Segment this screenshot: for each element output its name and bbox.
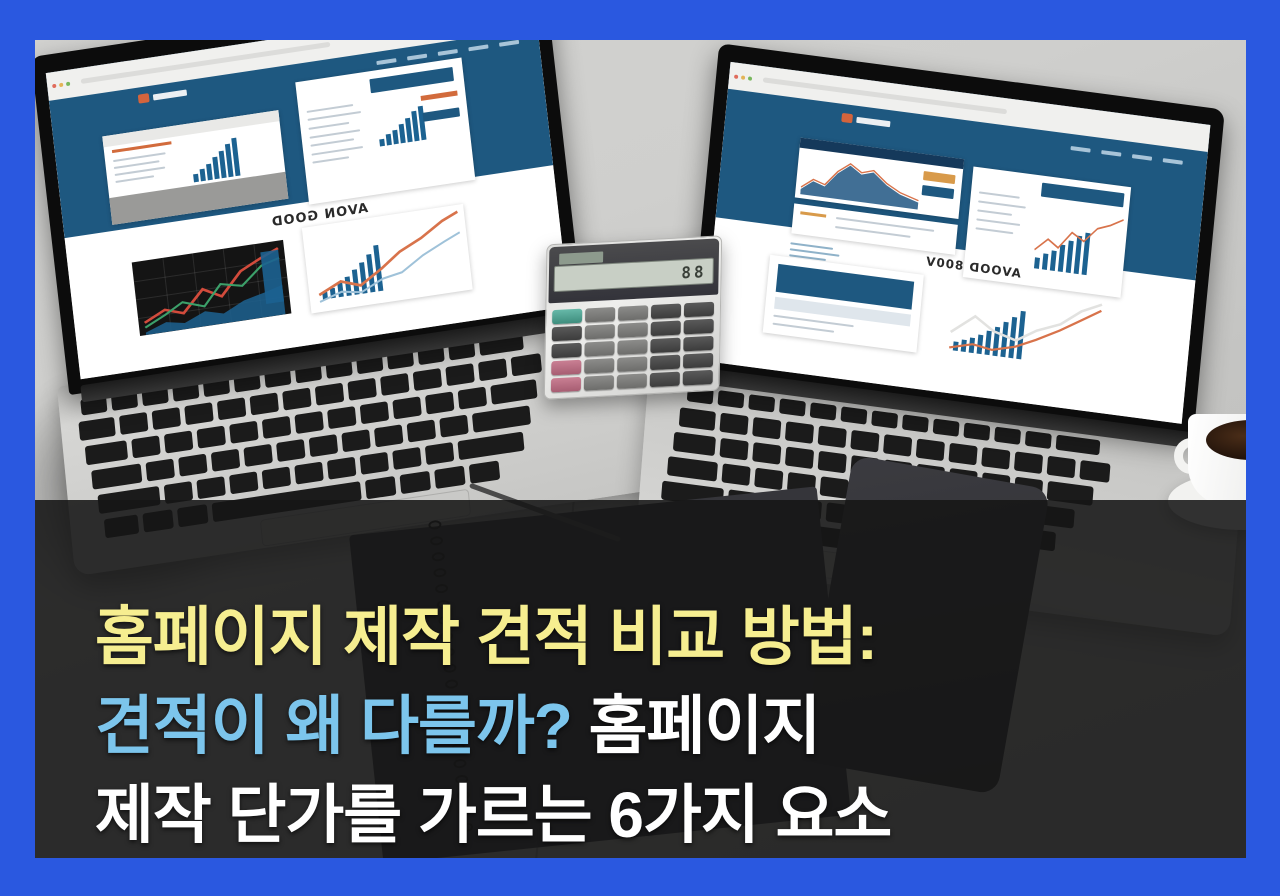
calculator-keypad[interactable] <box>551 302 714 393</box>
window-minimize-icon[interactable] <box>741 75 745 80</box>
dashboard-right: AVOOD 800V <box>702 62 1211 424</box>
window-maximize-icon[interactable] <box>66 81 70 86</box>
title-overlay: 홈페이지 제작 견적 비교 방법: 견적이 왜 다를까? 홈페이지 제작 단가를… <box>35 500 1246 858</box>
calc-key[interactable] <box>617 339 647 355</box>
title-line-2-rest: 홈페이지 <box>572 690 820 762</box>
title-line-2-highlight: 견적이 왜 다를까? <box>95 690 572 762</box>
calc-key[interactable] <box>684 319 714 335</box>
dark-line-chart <box>132 240 292 336</box>
window-minimize-icon[interactable] <box>59 83 63 88</box>
window-close-icon[interactable] <box>734 74 738 79</box>
cta-button[interactable] <box>369 67 454 94</box>
calc-key[interactable] <box>684 302 714 318</box>
title-line-3: 제작 단가를 가르는 6가지 요소 <box>95 771 1215 858</box>
title-line-1: 홈페이지 제작 견적 비교 방법: <box>95 593 1215 682</box>
cta-button[interactable] <box>1041 182 1125 207</box>
calc-key[interactable] <box>650 355 680 371</box>
outer-blue-frame: AVON GOOD <box>0 0 1280 896</box>
title-line-2: 견적이 왜 다를까? 홈페이지 <box>95 682 1215 771</box>
title-block: 홈페이지 제작 견적 비교 방법: 견적이 왜 다를까? 홈페이지 제작 단가를… <box>95 593 1215 858</box>
calc-key[interactable] <box>617 356 647 372</box>
logo-mark-icon <box>138 94 150 105</box>
bar-chart-card2 <box>376 106 426 147</box>
calc-key[interactable] <box>618 305 648 321</box>
window-close-icon[interactable] <box>52 84 56 89</box>
calc-key[interactable] <box>584 341 614 357</box>
calc-key[interactable] <box>618 322 648 338</box>
logo-mark-icon <box>841 113 853 123</box>
calc-key[interactable] <box>551 343 581 359</box>
calc-key[interactable] <box>651 321 681 337</box>
calc-key[interactable] <box>617 373 647 389</box>
calc-key[interactable] <box>585 307 615 323</box>
calc-key[interactable] <box>552 309 582 325</box>
calc-key[interactable] <box>651 303 681 319</box>
dashboard-card-2 <box>295 58 475 205</box>
calc-key[interactable] <box>683 353 713 369</box>
calc-key[interactable] <box>584 358 614 374</box>
calc-key[interactable] <box>551 377 581 393</box>
calc-key[interactable] <box>552 326 582 342</box>
calc-key[interactable] <box>683 370 713 386</box>
bar-chart-mini <box>189 137 240 182</box>
calculator-display-value: 88 <box>681 262 707 282</box>
dashboard-card-bars <box>963 166 1132 297</box>
desk-calculator[interactable]: 88 <box>544 235 722 400</box>
calc-key[interactable] <box>650 338 680 354</box>
laptop-right-screen[interactable]: AVOOD 800V <box>702 62 1211 424</box>
calc-key-equals[interactable] <box>650 372 680 388</box>
calc-key[interactable] <box>551 360 581 376</box>
calc-key[interactable] <box>584 375 614 391</box>
dashboard-chart-lower-right <box>935 277 1106 379</box>
calc-key[interactable] <box>585 324 615 340</box>
window-maximize-icon[interactable] <box>748 76 752 81</box>
calc-key[interactable] <box>683 336 713 352</box>
photo-canvas: AVON GOOD <box>35 40 1246 858</box>
